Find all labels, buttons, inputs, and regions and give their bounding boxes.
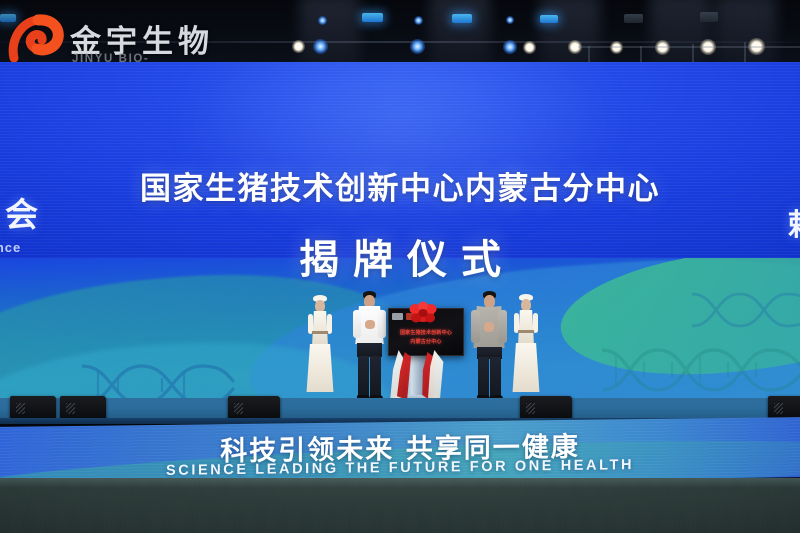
- rig-truss: [578, 46, 800, 48]
- spotlight-icon: [523, 41, 536, 54]
- hostess-head: [315, 300, 325, 312]
- hostess-head: [521, 299, 531, 311]
- led-panel-light: [624, 14, 643, 23]
- official-arm: [378, 310, 386, 338]
- backdrop-title-line2: 揭牌仪式: [0, 227, 800, 285]
- official-clapping-hands: [484, 322, 494, 332]
- official-leg: [370, 356, 381, 398]
- official-leg: [478, 357, 489, 398]
- official-clapping-hands: [365, 320, 375, 329]
- spotlight-icon: [292, 40, 305, 53]
- hostess-belt: [518, 330, 534, 333]
- led-panel-light: [362, 13, 383, 22]
- spotlight-icon: [503, 40, 517, 54]
- plaque-badge-gray: [392, 313, 403, 320]
- plaque-text-line2: 内蒙古分中心: [389, 338, 463, 346]
- spotlight-icon: [410, 39, 425, 54]
- dna-helix-icon: [690, 290, 800, 330]
- official-hips: [357, 343, 382, 357]
- conference-stage-photo: 金宇生物 JINYU BIO-TECHNOLOGY: [0, 0, 800, 533]
- backdrop-glow: [176, 62, 624, 242]
- venue-carpet: [0, 478, 800, 533]
- official-leg: [358, 356, 369, 398]
- red-ribbon-flower-icon: [408, 300, 438, 326]
- carpet-highlight: [0, 478, 800, 488]
- official-arm: [353, 310, 361, 338]
- led-panel-light: [540, 15, 558, 23]
- spotlight-icon: [313, 39, 328, 54]
- led-panel-light: [700, 12, 718, 22]
- official-blazer-sleeve: [471, 310, 480, 343]
- hostess-skirt: [512, 343, 540, 392]
- spotlight-icon: [318, 16, 327, 25]
- dna-helix-icon: [600, 344, 800, 396]
- official-blazer-sleeve: [498, 310, 507, 343]
- hostess-skirt: [306, 344, 334, 392]
- spotlight-icon: [506, 16, 514, 24]
- spotlight-icon: [414, 16, 423, 25]
- flame-swoosh-icon: [8, 14, 70, 66]
- backdrop-title-line1: 国家生猪技术创新中心内蒙古分中心: [0, 163, 800, 208]
- stage-front-led-banner: 科技引领未来 共享同一健康 SCIENCE LEADING THE FUTURE…: [0, 417, 800, 487]
- hostess-belt: [312, 331, 328, 334]
- plaque-text-line1: 国家生猪技术创新中心: [389, 329, 463, 337]
- led-panel-light: [452, 14, 472, 23]
- official-leg: [490, 357, 501, 398]
